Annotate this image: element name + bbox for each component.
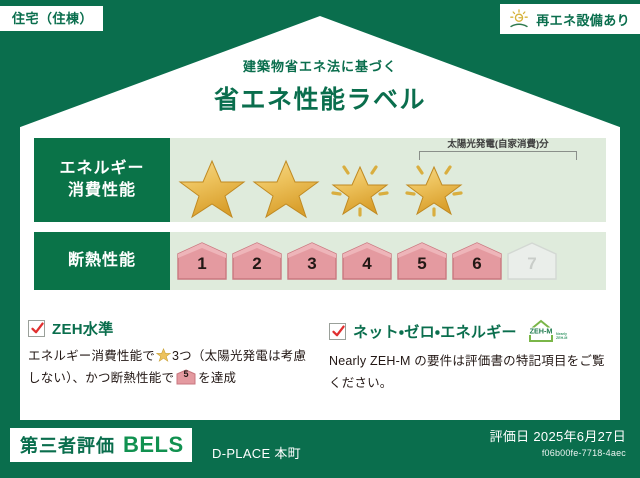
energy-performance-label: エネルギー 消費性能 [34,138,170,222]
grade-value: 7 [527,255,536,281]
svg-text:ZEH-M: ZEH-M [529,327,552,336]
footer-meta: 評価日 2025年6月27日 f06b00fe-7718-4aec [490,426,626,458]
energy-performance-label: 住宅（住棟） 再エネ設備あり 建築物省エネ法に基づく 省エネ性能ラベル [0,0,640,478]
inline-star-icon [156,348,171,362]
net-zero-energy-block: ネット・ゼロ・エネルギー ZEH-M Nearly ZEH-M Nearly Z… [329,318,614,394]
page-title: 省エネ性能ラベル [0,80,640,116]
energy-label-line2: 消費性能 [68,180,136,202]
zeh-desc-part1: エネルギー消費性能で [28,349,155,363]
evaluation-date: 評価日 2025年6月27日 [490,426,626,445]
zeh-desc-part3: を達成 [198,371,236,385]
criteria-section: ZEH水準 エネルギー消費性能で3つ（太陽光発電は考慮しない）、かつ断熱性能で5… [28,318,614,394]
solar-annotation-label: 太陽光発電(自家消費)分 [413,136,583,150]
insulation-performance-row: 断熱性能 1 [34,232,606,290]
grade-value: 2 [252,255,261,281]
zeh-desc-stars: 3つ（太陽光発電 [172,349,268,363]
label-uid: f06b00fe-7718-4aec [490,448,626,458]
grade-badge-inactive: 7 [506,241,558,281]
zeh-m-logo-icon: ZEH-M Nearly ZEH-M [526,318,568,344]
grade-value: 3 [307,255,316,281]
net-zero-label: ネット・ゼロ・エネルギー [353,321,517,342]
grade-value: 6 [472,255,481,281]
energy-stars-container: 太陽光発電(自家消費)分 [170,138,606,222]
energy-performance-row: エネルギー 消費性能 [34,138,606,222]
renewable-energy-badge: 再エネ設備あり [500,4,640,34]
insulation-grades-container: 1 2 3 [170,232,606,290]
zeh-standard-block: ZEH水準 エネルギー消費性能で3つ（太陽光発電は考慮しない）、かつ断熱性能で5… [28,318,313,394]
metrics-section: エネルギー 消費性能 [34,138,606,300]
sun-solar-icon [508,9,530,29]
grade-badge: 3 [286,241,338,281]
energy-label-line1: エネルギー [59,158,144,180]
grade-badge: 1 [176,241,228,281]
grade-badge: 5 [396,241,448,281]
zeh-standard-label: ZEH水準 [52,318,114,339]
building-name: D-PLACE 本町 [212,443,301,462]
insulation-performance-label: 断熱性能 [34,232,170,290]
zeh-standard-description: エネルギー消費性能で3つ（太陽光発電は考慮しない）、かつ断熱性能で5を達成 [28,346,313,389]
grade-value: 4 [362,255,371,281]
grade-value: 5 [417,255,426,281]
zeh-standard-checkbox [28,320,45,337]
bels-certification-box: 第三者評価 BELS [10,428,192,462]
star-item [176,156,248,220]
third-party-eval-label: 第三者評価 [20,432,115,458]
label-subtitle: 建築物省エネ法に基づく [0,56,640,75]
grade-badge: 2 [231,241,283,281]
net-zero-heading: ネット・ゼロ・エネルギー ZEH-M Nearly ZEH-M [329,318,614,344]
category-tag: 住宅（住棟） [0,6,103,31]
footer: 第三者評価 BELS D-PLACE 本町 評価日 2025年6月27日 f06… [0,420,640,478]
star-rating [176,156,470,220]
insulation-grade-scale: 1 2 3 [176,241,558,281]
bels-logo-text: BELS [123,432,184,458]
star-item-solar [324,156,396,220]
star-item [250,156,322,220]
renewable-badge-label: 再エネ設備あり [536,10,630,29]
inline-grade-badge-icon: 5 [176,369,196,385]
grade-value: 1 [197,255,206,281]
svg-text:ZEH-M: ZEH-M [556,336,567,340]
grade-badge: 4 [341,241,393,281]
zeh-standard-heading: ZEH水準 [28,318,313,339]
net-zero-description: Nearly ZEH-M の要件は評価書の特記項目をご覧ください。 [329,351,614,394]
grade-badge: 6 [451,241,503,281]
star-item-solar [398,156,470,220]
insulation-label-line1: 断熱性能 [68,250,136,272]
net-zero-checkbox [329,323,346,340]
title-block: 建築物省エネ法に基づく 省エネ性能ラベル [0,56,640,116]
inline-grade-value: 5 [176,369,196,385]
